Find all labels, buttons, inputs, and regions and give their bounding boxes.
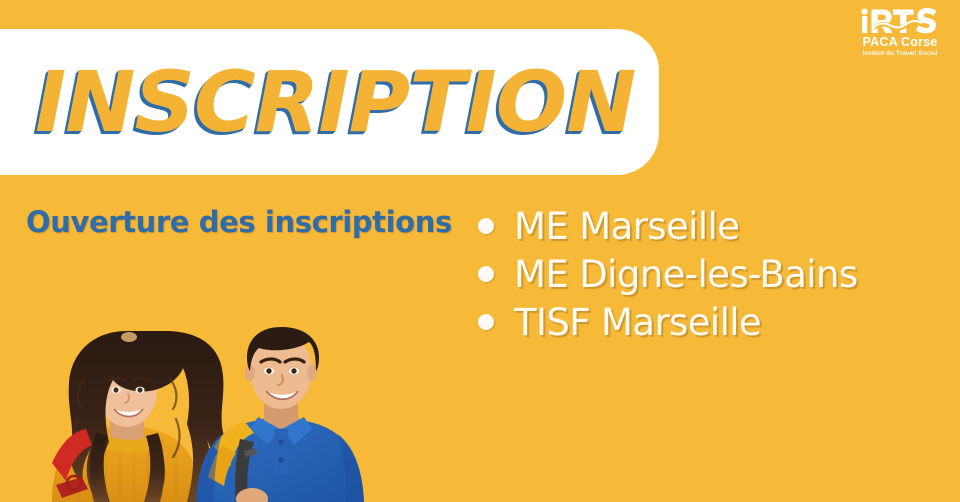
program-label: TISF Marseille [514, 304, 761, 341]
program-label: ME Digne-les-Bains [514, 256, 858, 293]
list-item: ME Marseille [478, 202, 858, 250]
bullet-icon [478, 266, 494, 282]
list-item: ME Digne-les-Bains [478, 250, 858, 298]
page-title: INSCRIPTION [35, 60, 635, 144]
list-item: TISF Marseille [478, 298, 858, 346]
subtitle-text: Ouverture des inscriptions [26, 206, 452, 239]
irts-logo[interactable]: PACA Corse Institut du Travail Social [852, 8, 948, 57]
program-label: ME Marseille [514, 208, 739, 245]
logo-region-label: PACA Corse [852, 36, 948, 49]
poster-canvas: PACA Corse Institut du Travail Social IN… [0, 0, 960, 502]
bullet-icon [478, 218, 494, 234]
logo-tagline-label: Institut du Travail Social [852, 51, 948, 57]
title-panel: INSCRIPTION [0, 29, 659, 175]
students-photo [0, 287, 400, 502]
program-list: ME Marseille ME Digne-les-Bains TISF Mar… [478, 202, 858, 346]
bullet-icon [478, 314, 494, 330]
irts-wordmark-icon [861, 8, 939, 34]
